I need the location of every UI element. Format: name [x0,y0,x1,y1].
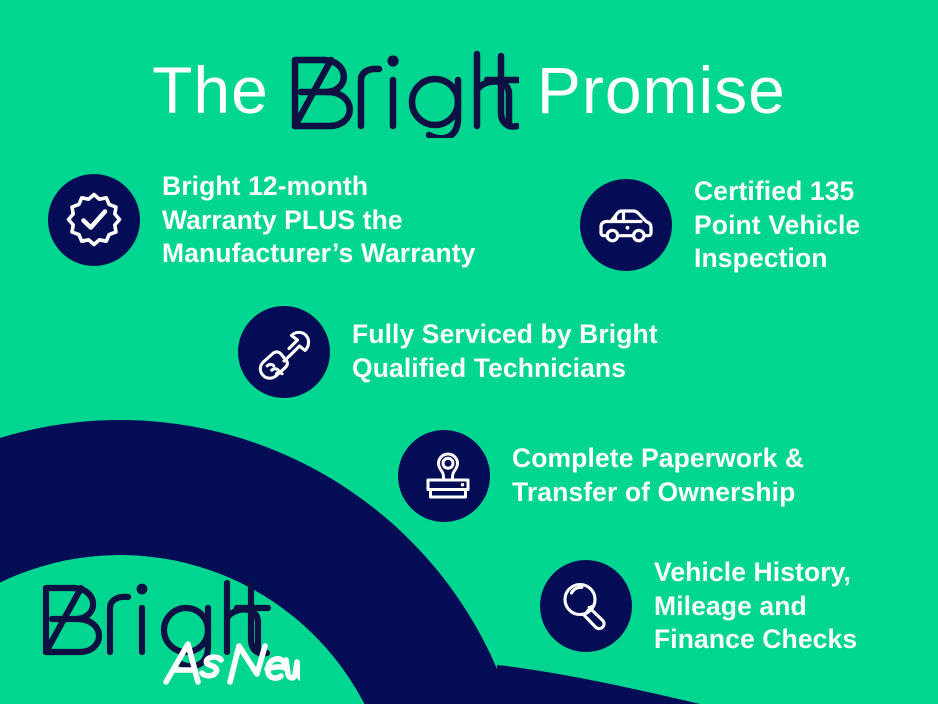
feature-label: Complete Paperwork & Transfer of Ownersh… [512,442,804,509]
feature-item-paperwork: Complete Paperwork & Transfer of Ownersh… [398,430,804,522]
title-suffix: Promise [537,57,786,123]
navy-wedge [497,665,700,704]
bright-wordmark-logo [287,42,519,138]
brand-logo-bright-as-new [38,568,300,686]
magnifying-glass-icon [540,560,632,652]
promise-poster: The [0,0,938,704]
page-title: The [0,40,938,140]
hand-wrench-icon [238,306,330,398]
badge-check-icon [48,174,140,266]
feature-item-inspection: Certified 135 Point Vehicle Inspection [580,175,860,276]
feature-label: Vehicle History, Mileage and Finance Che… [654,556,857,657]
rubber-stamp-icon [398,430,490,522]
feature-item-warranty: Bright 12-month Warranty PLUS the Manufa… [48,170,476,271]
car-icon [580,179,672,271]
feature-label: Bright 12-month Warranty PLUS the Manufa… [162,170,476,271]
feature-label: Certified 135 Point Vehicle Inspection [694,175,860,276]
feature-label: Fully Serviced by Bright Qualified Techn… [352,318,658,385]
feature-item-checks: Vehicle History, Mileage and Finance Che… [540,556,857,657]
feature-item-servicing: Fully Serviced by Bright Qualified Techn… [238,306,658,398]
title-prefix: The [152,57,269,123]
